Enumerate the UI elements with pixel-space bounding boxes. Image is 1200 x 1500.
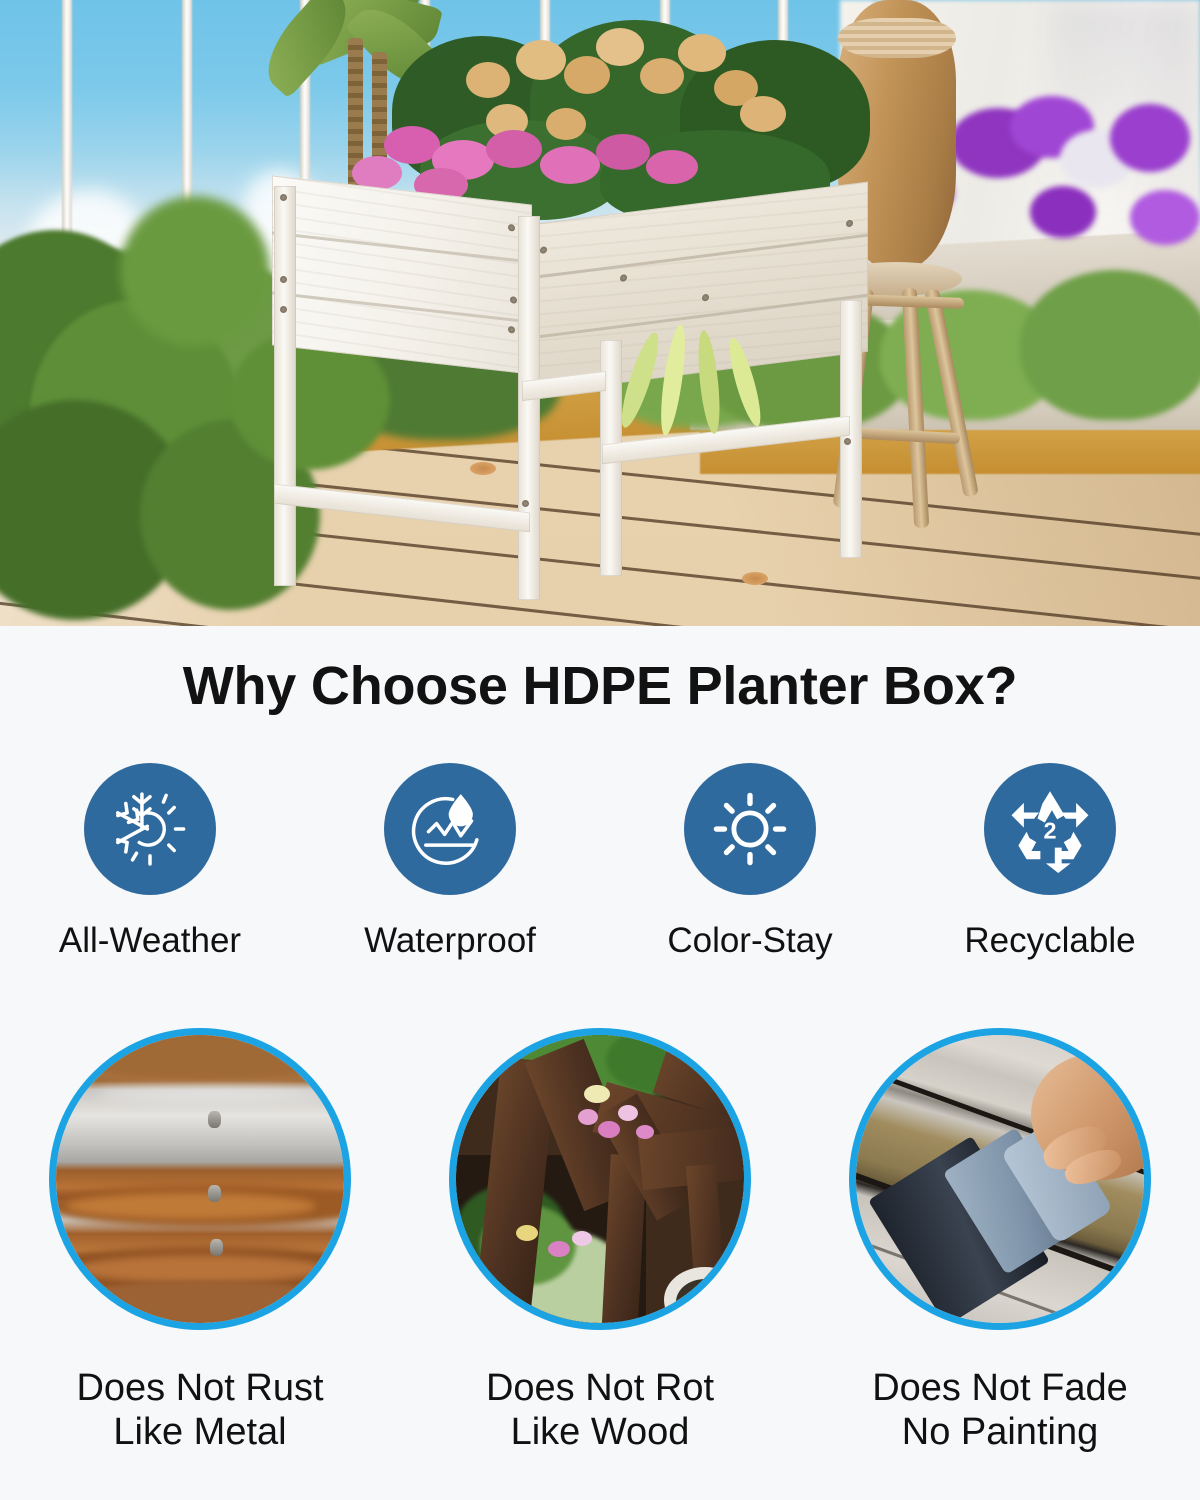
metal-highlight [96, 1085, 326, 1101]
metal-bolt [208, 1185, 221, 1202]
background-hedge [1020, 270, 1200, 420]
comparison-fade: Does Not Fade No Painting [800, 1028, 1200, 1455]
foreground-bush [120, 196, 270, 346]
planter-front-panel [272, 175, 532, 374]
pink-flower [636, 1125, 654, 1139]
planter-screw [510, 296, 517, 304]
tan-petunia [546, 108, 586, 140]
pink-flower [548, 1241, 570, 1257]
pink-verbena [486, 130, 542, 168]
rotted-wood-planter-photo [449, 1028, 751, 1330]
purple-flower-cluster [1130, 190, 1200, 245]
feature-recyclable: 2 Recyclable [900, 763, 1200, 961]
comparison-caption: Does Not Rot Like Wood [486, 1366, 714, 1455]
comparison-caption: Does Not Rust Like Metal [76, 1366, 323, 1455]
infographic-page: Why Choose HDPE Planter Box? [0, 0, 1200, 1500]
feature-label: All-Weather [59, 921, 241, 961]
rust-streak [76, 1255, 326, 1283]
recyclable-icon: 2 [984, 763, 1116, 895]
pink-verbena [540, 146, 600, 184]
feature-all-weather: All-Weather [0, 763, 300, 961]
white-pot-inner [676, 1279, 734, 1323]
planter-leg [518, 216, 540, 600]
painting-faded-deck-photo [849, 1028, 1151, 1330]
tan-petunia [516, 40, 566, 80]
comparison-row: Does Not Rust Like Metal [0, 1028, 1200, 1455]
feature-label: Recyclable [964, 921, 1135, 961]
color-stay-icon [684, 763, 816, 895]
planter-screw [280, 194, 287, 201]
planter-leg [274, 186, 296, 586]
feature-label: Color-Stay [667, 921, 832, 961]
rust-streak [66, 1193, 316, 1219]
purple-flower-cluster [1110, 104, 1190, 172]
metal-bolt [210, 1239, 223, 1256]
tan-petunia [678, 34, 726, 72]
feature-color-stay: Color-Stay [600, 763, 900, 961]
pink-flower [618, 1105, 638, 1121]
resin-code-number: 2 [1044, 818, 1057, 844]
planter-leg-brace [602, 416, 850, 465]
planter-screw [844, 438, 851, 445]
cream-flower [584, 1085, 610, 1103]
comparison-caption: Does Not Fade No Painting [872, 1366, 1128, 1455]
planter-screw [508, 326, 515, 334]
hero-product-photo [0, 0, 1200, 626]
feature-icon-row: All-Weather Waterproof [0, 763, 1200, 961]
hdpe-planter-box [272, 180, 862, 610]
planter-screw [280, 306, 287, 313]
feature-waterproof: Waterproof [300, 763, 600, 961]
page-title: Why Choose HDPE Planter Box? [0, 655, 1200, 717]
feature-label: Waterproof [364, 921, 536, 961]
planter-wood-grain [272, 175, 532, 374]
pink-verbena [646, 150, 698, 184]
planter-screw [508, 224, 515, 232]
soil-top [56, 1035, 344, 1079]
tan-petunia [640, 58, 684, 94]
metal-bolt [208, 1111, 221, 1128]
yellow-flower [516, 1225, 538, 1241]
purple-flower-cluster [1030, 186, 1096, 238]
planter-screw [522, 500, 529, 507]
tan-petunia [564, 56, 610, 94]
pink-flower [572, 1231, 592, 1246]
comparison-wood: Does Not Rot Like Wood [400, 1028, 800, 1455]
comparison-rust: Does Not Rust Like Metal [0, 1028, 400, 1455]
tan-petunia [740, 96, 786, 132]
rusted-metal-raised-bed-photo [49, 1028, 351, 1330]
tan-petunia [596, 28, 644, 66]
tan-petunia [466, 62, 510, 98]
pink-verbena [596, 134, 650, 170]
waterproof-icon [384, 763, 516, 895]
pink-flower [598, 1121, 620, 1138]
planter-screw [280, 276, 287, 283]
pink-flower [578, 1109, 598, 1125]
planter-leg-brace [274, 484, 530, 533]
all-weather-icon [84, 763, 216, 895]
urn-decorative-band [838, 18, 956, 58]
